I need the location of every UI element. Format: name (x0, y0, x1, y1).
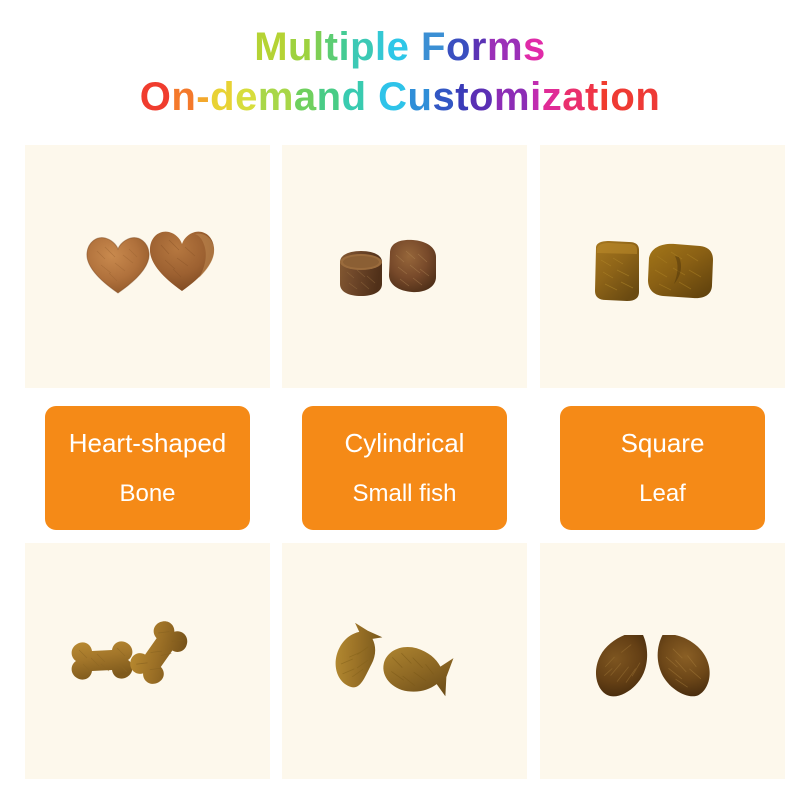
bone-kibble-right (128, 618, 206, 700)
title-char: a (294, 75, 317, 119)
heart-kibble-right (147, 227, 217, 293)
title-char: o (446, 25, 471, 69)
title-char: F (421, 25, 446, 69)
title-char: r (471, 25, 487, 69)
title-char: l (313, 25, 325, 69)
square-kibble-photo (540, 145, 785, 388)
title-char: i (530, 75, 542, 119)
title-char: M (254, 25, 288, 69)
cylinder-kibble-left (335, 250, 387, 298)
title-char: n (171, 75, 196, 119)
title-char: m (494, 75, 530, 119)
label-card-cylindrical-smallfish[interactable]: Cylindrical Small fish (302, 406, 507, 530)
title-char: - (196, 75, 210, 119)
title-char: m (258, 75, 294, 119)
product-forms-poster: Multiple Forms On-demand Customization (0, 0, 800, 800)
label-figure-text: Leaf (639, 480, 686, 508)
leaf-kibble-right (650, 635, 718, 697)
title-char: l (375, 25, 387, 69)
cylinder-kibble-right (382, 237, 442, 297)
title-char: p (350, 25, 375, 69)
title-char: t (585, 75, 599, 119)
product-grid: Heart-shaped Bone (25, 145, 785, 779)
title-char: o (469, 75, 494, 119)
label-shape-text: Square (621, 428, 705, 458)
leaf-kibble-left (588, 635, 656, 697)
cylindrical-kibble-photo (282, 145, 527, 388)
square-kibble-right (645, 240, 717, 304)
label-figure-text: Bone (119, 480, 175, 508)
title-line-1: Multiple Forms (0, 22, 800, 72)
title-char (367, 75, 379, 119)
title-char: t (325, 25, 339, 69)
label-shape-text: Heart-shaped (69, 428, 227, 458)
title-char (409, 25, 421, 69)
title-char: d (342, 75, 367, 119)
label-card-heart-bone[interactable]: Heart-shaped Bone (45, 406, 250, 530)
title-char: C (378, 75, 407, 119)
title-line-2: On-demand Customization (0, 72, 800, 122)
product-column-heart-bone: Heart-shaped Bone (25, 145, 270, 779)
title-char: e (387, 25, 410, 69)
label-card-square-leaf[interactable]: Square Leaf (560, 406, 765, 530)
title-char: t (455, 75, 469, 119)
product-column-square-leaf: Square Leaf (540, 145, 785, 779)
title-char: a (562, 75, 585, 119)
bone-shaped-kibble-photo (25, 543, 270, 779)
title-char: u (288, 25, 313, 69)
label-shape-text: Cylindrical (345, 428, 465, 458)
title-char: u (408, 75, 433, 119)
heart-kibble-left (85, 233, 151, 295)
square-kibble-left (589, 240, 643, 304)
title-char: n (317, 75, 342, 119)
title-char: O (140, 75, 172, 119)
title-char: s (523, 25, 546, 69)
title-char: s (432, 75, 455, 119)
title-char: z (542, 75, 563, 119)
title-char: d (210, 75, 235, 119)
title-char: o (610, 75, 635, 119)
heart-shaped-kibble-photo (25, 145, 270, 388)
small-fish-kibble-photo (282, 543, 527, 779)
poster-title: Multiple Forms On-demand Customization (0, 22, 800, 122)
product-column-cylindrical-smallfish: Cylindrical Small fish (282, 145, 527, 779)
title-char: i (338, 25, 350, 69)
title-char: m (487, 25, 523, 69)
leaf-shaped-kibble-photo (540, 543, 785, 779)
title-char: e (235, 75, 258, 119)
title-char: n (635, 75, 660, 119)
label-figure-text: Small fish (352, 480, 456, 508)
title-char: i (599, 75, 611, 119)
fish-kibble-right (380, 643, 456, 699)
